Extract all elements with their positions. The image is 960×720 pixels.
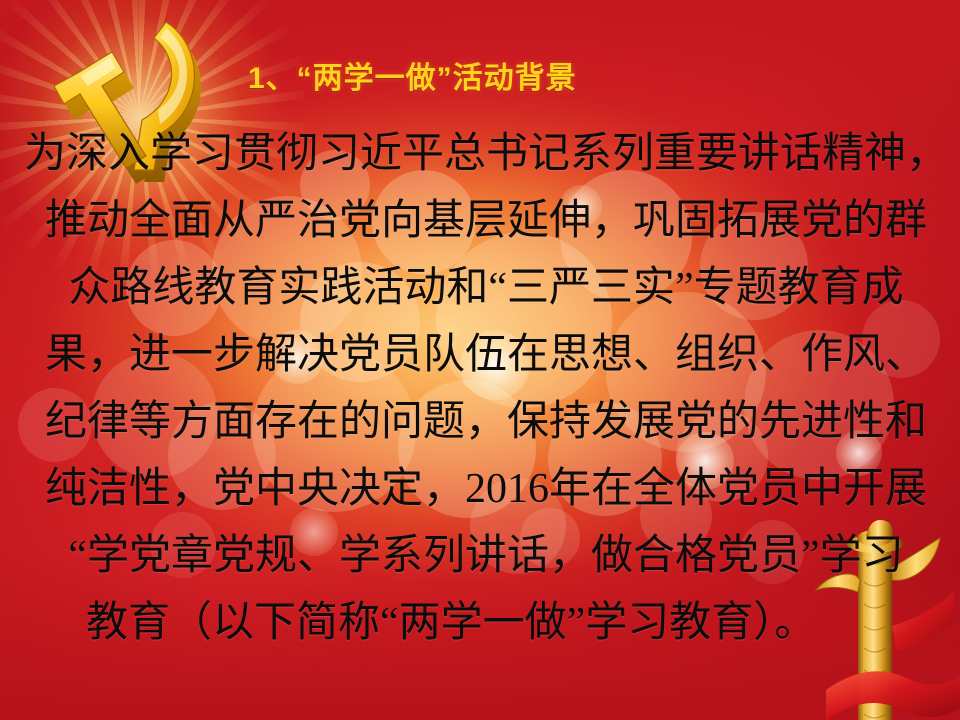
- body-line: 为深入学习贯彻习近平总书记系列重要讲话精神，: [56, 116, 916, 183]
- body-line: 众路线教育实践活动和“三严三实”专题教育成: [56, 250, 916, 317]
- slide-body-text: 为深入学习贯彻习近平总书记系列重要讲话精神， 推动全面从严治党向基层延伸，巩固拓…: [56, 116, 916, 652]
- slide-title: 1、“两学一做”活动背景: [248, 52, 708, 98]
- body-line: 果，进一步解决党员队伍在思想、组织、作风、: [56, 317, 916, 384]
- body-line: “学党章党规、学系列讲话，做合格党员”学习: [56, 518, 916, 585]
- body-line: 纯洁性，党中央决定，2016年在全体党员中开展: [56, 451, 916, 518]
- body-line: 纪律等方面存在的问题，保持发展党的先进性和: [56, 384, 916, 451]
- body-line: 教育（以下简称“两学一做”学习教育）。: [56, 585, 916, 652]
- presentation-slide: 1、“两学一做”活动背景 为深入学习贯彻习近平总书记系列重要讲话精神， 推动全面…: [0, 0, 960, 720]
- body-line: 推动全面从严治党向基层延伸，巩固拓展党的群: [56, 183, 916, 250]
